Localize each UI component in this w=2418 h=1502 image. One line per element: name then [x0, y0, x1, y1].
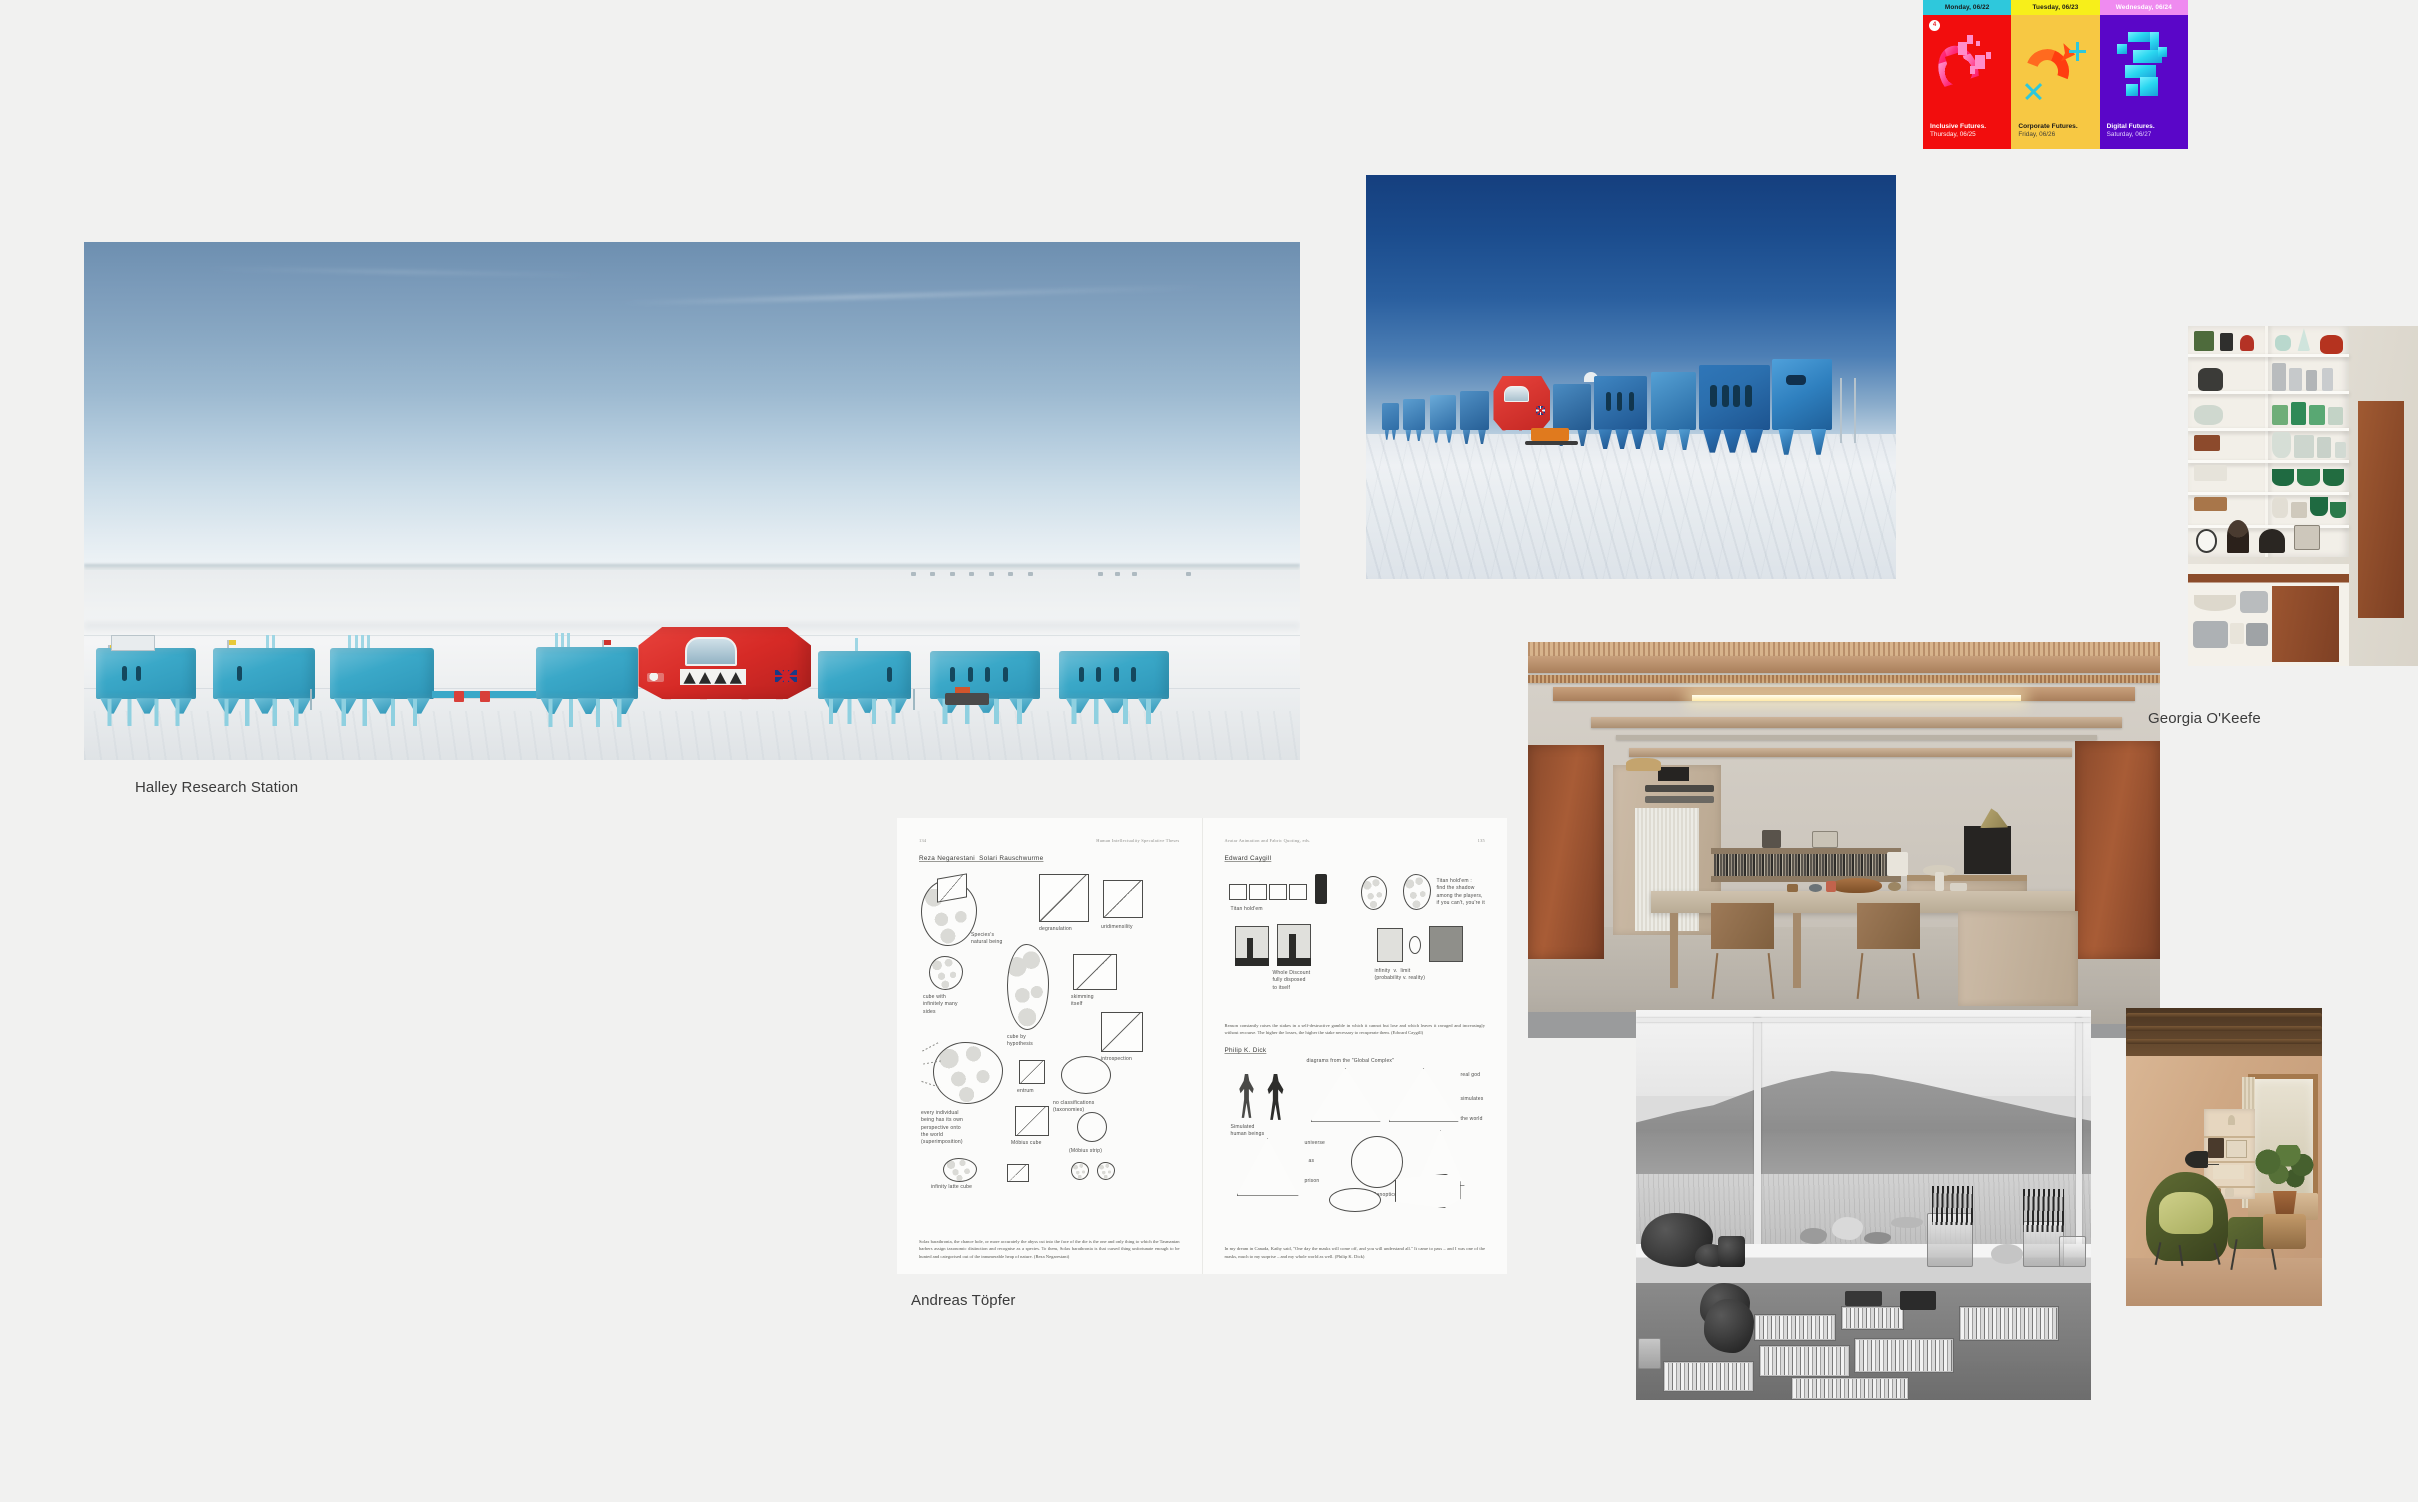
sketch-die — [1103, 880, 1143, 918]
image-okeefe-pantry[interactable] — [2188, 326, 2418, 666]
bw-photograph — [1636, 1010, 2091, 1400]
green-glass-jar — [2291, 402, 2305, 425]
potted-olive-tree — [2255, 1145, 2314, 1217]
sketch-moebius-loop — [1061, 1056, 1111, 1094]
framed-item — [2294, 525, 2320, 550]
animal-skull — [1832, 1217, 1864, 1240]
sketch-label: Titan hold'em — [1231, 906, 1301, 913]
interior-illustration — [1528, 642, 2160, 1038]
station-module — [1553, 384, 1591, 430]
glass-jar — [2317, 437, 2331, 458]
image-halley-close[interactable] — [1366, 175, 1896, 579]
table-leg — [1793, 913, 1801, 988]
log-stool — [2263, 1214, 2306, 1250]
calendar-column-header: Tuesday, 06/23 — [2011, 0, 2099, 15]
sketch-ray — [922, 1041, 940, 1051]
glass-vessel — [2275, 335, 2291, 351]
running-head-right: Avatar Animation and Fabric Quoting, eds… — [1225, 838, 1486, 843]
glass-dish — [2294, 435, 2313, 458]
service-tower — [1840, 378, 1856, 443]
calendar-card-date: Friday, 06/26 — [2018, 131, 2092, 140]
niche-box — [2208, 1138, 2223, 1158]
moodboard-card-futures-calendar[interactable]: Monday, 06/22 4 — [1923, 0, 2188, 149]
triangle-panel — [680, 669, 746, 685]
moodboard-card-halley-panorama[interactable]: Halley Research Station — [84, 242, 1300, 796]
glass-jar — [2059, 1236, 2086, 1267]
image-futures-calendar-cards[interactable]: Monday, 06/22 4 — [1923, 0, 2188, 149]
black-rock-large — [1704, 1299, 1754, 1354]
station-module — [536, 647, 638, 700]
wooden-door-right — [2075, 741, 2160, 959]
niche-card — [2226, 1140, 2247, 1158]
sketch-die-small — [1019, 1060, 1045, 1084]
moodboard-card-andreas-topfer[interactable]: 134Human Intellectuality Speculative The… — [897, 818, 1507, 1309]
sketch-card — [1229, 884, 1247, 900]
sketch-cluster — [1097, 1162, 1115, 1180]
page-quote-right-lower: In my dream in Canada, Kathy said, "One … — [1225, 1245, 1486, 1260]
green-glass-jar — [2272, 405, 2288, 426]
moodboard-card-okeefe-pantry[interactable]: Georgia O'Keefe — [2188, 326, 2418, 666]
sketch-label: universe — [1305, 1140, 1351, 1147]
cloud-wisp — [619, 286, 1203, 305]
wooden-door — [2358, 401, 2404, 619]
sky — [84, 242, 1300, 568]
glyph-pixel-z-icon — [2100, 15, 2188, 123]
cloud-wisp — [206, 268, 595, 277]
counter-with-red-top — [2188, 564, 2349, 666]
green-bowl — [2297, 469, 2320, 485]
dark-tin — [2220, 333, 2233, 351]
sketch-pyramid — [1311, 1068, 1381, 1122]
paint-tube-tray — [1959, 1306, 2059, 1341]
moodboard-card-okeefe-studio[interactable] — [1528, 642, 2160, 1038]
module-window — [1786, 375, 1806, 385]
sketch-label: introspection — [1101, 1056, 1157, 1063]
station-module — [818, 651, 910, 699]
green-jar — [2194, 331, 2213, 352]
station-module-large — [1699, 365, 1771, 430]
sketch-surveillance-camera — [1395, 1174, 1461, 1208]
calendar-card-date: Thursday, 06/25 — [1930, 131, 2004, 140]
sketch-label: real god — [1461, 1072, 1503, 1079]
antarctic-panorama-illustration — [84, 242, 1300, 760]
wooden-tray — [2194, 497, 2226, 511]
white-box — [2230, 623, 2244, 643]
calendar-column-wednesday[interactable]: Wednesday, 06/24 — [2100, 0, 2188, 149]
sketch-dark-card — [1315, 874, 1327, 904]
sketch-card — [1249, 884, 1267, 900]
sketch-figure-blob — [1007, 944, 1049, 1030]
running-head-left: 134Human Intellectuality Speculative The… — [919, 838, 1180, 843]
sketch-label: infinity v. limit(probability v. reality… — [1375, 968, 1467, 983]
shelf — [2188, 354, 2349, 357]
plaster-island-block — [1958, 911, 2078, 1006]
wooden-bowl — [1831, 878, 1882, 893]
sketch-label: as — [1309, 1158, 1339, 1165]
sketch-label: the world — [1461, 1116, 1503, 1123]
union-jack-icon — [775, 670, 797, 682]
card-caption: Georgia O'Keefe — [2148, 710, 2261, 727]
station-module-end — [1772, 359, 1832, 430]
green-glass-jar — [2309, 405, 2325, 426]
sketch-card — [1289, 884, 1307, 900]
distant-equipment-row — [84, 572, 1300, 580]
sketch-pyramid-dark — [1237, 1138, 1299, 1196]
black-cabinet — [1964, 826, 2011, 874]
sketch-plinth — [1277, 958, 1311, 966]
wooden-chair — [1857, 903, 1920, 998]
sketch-label: Speciesʼsnatural being — [971, 932, 1023, 947]
window-header — [1636, 1018, 2091, 1023]
page-heading-left: Reza Negarestani Solari Rauschwurme — [919, 855, 1180, 862]
moodboard-canvas[interactable]: Halley Research Station — [0, 0, 2418, 1502]
book-page-right: Avatar Animation and Fabric Quoting, eds… — [1203, 818, 1508, 1274]
silver-pot — [2306, 370, 2317, 391]
shelf-divider — [2265, 326, 2268, 557]
station-module — [1594, 376, 1647, 431]
strip-light — [1692, 695, 2021, 701]
tracked-vehicle — [945, 693, 989, 705]
stereo-unit — [1645, 785, 1715, 792]
sketch-cube-inspect — [1101, 1012, 1143, 1052]
white-jug — [2272, 497, 2288, 518]
paint-tube-tray — [1841, 1306, 1905, 1329]
cabinet-door — [2272, 586, 2340, 661]
sketch-cluster — [1071, 1162, 1089, 1180]
stacked-lids — [2227, 520, 2250, 552]
framed-photo — [1762, 830, 1781, 847]
sketch-label: degranulation — [1039, 926, 1095, 933]
sketch-simulated-figure — [1265, 1074, 1287, 1120]
red-pot — [2240, 335, 2254, 351]
page-heading-right: Edward Caygill — [1225, 855, 1486, 862]
sketch-cube-chain — [1007, 1164, 1029, 1182]
pantry-illustration — [2188, 326, 2418, 666]
latilla-row — [1528, 675, 2160, 683]
sketch-cube-grey — [1377, 928, 1403, 962]
sketch-cube-diag — [1073, 954, 1117, 990]
earthen-floor — [2126, 1258, 2322, 1306]
module-window — [685, 637, 737, 666]
niche-cup — [2228, 1115, 2235, 1126]
paint-tube-tray — [1791, 1377, 1909, 1400]
aluminium-kettle — [2193, 621, 2228, 648]
skidoo — [480, 691, 490, 702]
green-bowl — [2330, 502, 2346, 518]
card-caption: Halley Research Station — [135, 779, 1300, 796]
basket — [1626, 758, 1661, 771]
sketch-cube-dark — [1429, 926, 1463, 962]
bottle — [1935, 872, 1944, 891]
silver-pitcher — [2272, 363, 2286, 391]
dark-box — [1845, 1291, 1881, 1307]
calendar-column-tuesday[interactable]: Tuesday, 06/23 Corporate Futures. — [2011, 0, 2099, 149]
calendar-card-title: Digital Futures. — [2107, 123, 2181, 132]
orange-tracked-vehicle — [1531, 428, 1569, 441]
station-module — [1403, 399, 1425, 431]
station-module — [1651, 372, 1696, 431]
sketch-label: infinity latte cube — [931, 1184, 997, 1191]
cast-iron-teapot — [2198, 368, 2224, 391]
sketch-label: prison — [1305, 1178, 1345, 1185]
image-adobe-sitting-room[interactable] — [2126, 1008, 2322, 1306]
shelf — [2188, 391, 2349, 394]
ceiling-beam — [1591, 717, 2122, 727]
paint-tube-tray — [1754, 1314, 1836, 1341]
sketch-silhouette — [1289, 934, 1296, 958]
white-platter — [2194, 465, 2226, 481]
silver-pot — [2322, 368, 2333, 391]
wooden-door-left — [1528, 745, 1604, 959]
small-object — [1787, 884, 1798, 893]
sketch-pyramid — [1389, 1068, 1459, 1122]
record-spines — [1714, 854, 1897, 876]
sketch-label: Whole Discountfully disposedto itself — [1273, 970, 1343, 992]
station-module — [1430, 395, 1456, 431]
sketch-label: (Möbius strip) — [1069, 1148, 1133, 1155]
framed-print — [1812, 831, 1837, 848]
green-bowl — [2310, 497, 2328, 515]
calendar-card-title: Corporate Futures. — [2018, 123, 2092, 132]
bone — [1891, 1217, 1923, 1229]
sketch-large-blob — [933, 1042, 1003, 1104]
ceiling-beam — [1528, 656, 2160, 673]
station-module — [330, 648, 435, 699]
station-module-red-central — [638, 627, 811, 700]
speaker — [1658, 767, 1690, 781]
image-topfer-book-spread[interactable]: 134Human Intellectuality Speculative The… — [897, 818, 1507, 1274]
sketch-infinite-cube — [943, 1158, 977, 1182]
sketch-area-right-upper: Titan hold'em Titan hold'em :find the sh… — [1225, 870, 1486, 1018]
sketch-label: Simulatedhuman beings — [1231, 1124, 1297, 1139]
track-rail — [1616, 735, 2096, 740]
white-cup — [1950, 883, 1966, 892]
sketch-human-figure — [1237, 1074, 1257, 1118]
table-leg — [1670, 913, 1678, 988]
sketch-label: simulates — [1461, 1096, 1503, 1103]
aluminium-pot — [2240, 591, 2269, 613]
moodboard-card-adobe-sitting-room[interactable] — [2126, 1008, 2322, 1306]
stereo-unit — [1645, 796, 1715, 802]
sketch-hand — [1403, 874, 1431, 910]
sketch-moebius-strip — [1077, 1112, 1107, 1142]
red-vessel — [1826, 881, 1836, 892]
station-modules — [84, 594, 1300, 729]
sketch-label: skimmingitself — [1071, 994, 1123, 1009]
sketch-label: diagrams from the "Global Complex" — [1307, 1058, 1427, 1065]
coiled-rope — [1991, 1244, 2023, 1264]
bas-logo — [647, 673, 664, 682]
calendar-card-date: Saturday, 06/27 — [2107, 131, 2181, 140]
station-module — [1059, 651, 1168, 699]
sketch-moebius-cube — [1015, 1106, 1049, 1136]
clear-glass — [2328, 407, 2342, 425]
module-window — [1504, 386, 1529, 402]
glyph-magnet-icon — [1923, 15, 2011, 123]
sketch-label: Möbius cube — [1011, 1140, 1067, 1147]
sketch-silhouette — [1247, 938, 1253, 958]
rooftop-antenna-box — [111, 635, 155, 651]
calendar-column-header: Wednesday, 06/24 — [2100, 0, 2188, 15]
calendar-column-header: Monday, 06/22 — [1923, 0, 2011, 15]
sketch-label: every individualbeing has its ownperspec… — [921, 1110, 995, 1146]
station-module — [1382, 403, 1399, 430]
book-spread: 134Human Intellectuality Speculative The… — [897, 818, 1507, 1274]
sketch-ellipse — [1409, 936, 1421, 954]
sketch-card — [1269, 884, 1287, 900]
viga-ceiling — [2126, 1008, 2322, 1056]
glass-jar — [2272, 432, 2291, 457]
sketch-cube-web — [1039, 874, 1089, 922]
page-heading-right-2: Philip K. Dick — [1225, 1047, 1486, 1054]
wooden-chair — [1711, 903, 1774, 998]
paint-tube-tray — [1759, 1345, 1850, 1376]
brushes — [2023, 1189, 2064, 1232]
window-mullion — [1754, 1018, 1761, 1260]
kitchen-scale — [2196, 529, 2217, 552]
image-adobe-studio-interior[interactable] — [1528, 642, 2160, 1038]
green-bowl — [2323, 469, 2344, 485]
station-module — [96, 648, 196, 699]
silver-pot — [2289, 368, 2302, 391]
calendar-column-monday[interactable]: Monday, 06/22 4 — [1923, 0, 2011, 149]
station-module-red — [1493, 376, 1550, 431]
page-quote-right-upper: Reason constantly raises the stakes in a… — [1225, 1022, 1486, 1037]
station-modules — [1382, 353, 1880, 458]
window-mullion — [2076, 1018, 2082, 1260]
card-caption: Andreas Töpfer — [911, 1292, 1507, 1309]
ceiling-beam — [1629, 748, 2071, 757]
stone — [1800, 1228, 1827, 1244]
sketch-label: uridimensility — [1101, 924, 1153, 931]
white-bowls — [2194, 595, 2236, 611]
sketch-label: Titan hold'em :find the shadowamong the … — [1437, 878, 1503, 907]
access-stairs — [913, 689, 915, 711]
aluminium-pot — [2246, 623, 2269, 645]
ceramic-dish — [2291, 502, 2307, 518]
moodboard-card-halley-close[interactable] — [1366, 175, 1896, 579]
sketch-hand — [1361, 876, 1387, 910]
station-module — [213, 648, 315, 699]
glass-tree — [2297, 328, 2310, 351]
shelf — [2188, 460, 2349, 463]
sketch-label: cube withinfinitely manysides — [923, 994, 979, 1016]
calendar-columns: Monday, 06/22 4 — [1923, 0, 2188, 149]
moodboard-card-bw-studio-window[interactable] — [1636, 1010, 2091, 1400]
dark-pan — [2194, 435, 2220, 451]
glass-jar — [1638, 1338, 1661, 1369]
green-bowl — [2272, 469, 2295, 485]
black-dome — [2259, 529, 2285, 552]
glass-cup — [2335, 442, 2346, 458]
dark-vessel — [1718, 1236, 1745, 1267]
glyph-arrow-plus-x-icon — [2011, 15, 2099, 123]
page-quote-left: Solax barathronia, the chance hole, or m… — [919, 1238, 1180, 1260]
calendar-card-title: Inclusive Futures. — [1930, 123, 2004, 132]
dark-box — [1900, 1291, 1936, 1311]
shelf — [2188, 492, 2349, 495]
sketch-label: entrum — [1017, 1088, 1057, 1095]
station-module — [1460, 391, 1490, 431]
union-jack-icon — [1536, 406, 1545, 415]
sketch-area-left: Speciesʼsnatural being degranulation uri… — [919, 870, 1180, 1180]
stacked-papers — [1887, 852, 1908, 877]
glass-bowl — [2194, 405, 2223, 426]
paint-tube-tray — [1663, 1361, 1754, 1392]
image-bw-studio-window[interactable] — [1636, 1010, 2091, 1400]
brushes — [1932, 1186, 1973, 1225]
shelf — [2188, 525, 2349, 528]
shelf — [2188, 428, 2349, 431]
sketch-label: cube byhypothesis — [1007, 1034, 1059, 1049]
access-stairs — [310, 689, 312, 711]
red-crock — [2320, 335, 2343, 353]
skidoo — [454, 691, 464, 702]
image-halley-panorama[interactable] — [84, 242, 1300, 760]
sketch-small-blob — [929, 956, 963, 990]
stone — [1864, 1232, 1891, 1244]
book-page-left: 134Human Intellectuality Speculative The… — [897, 818, 1203, 1274]
sketch-area-right-lower: diagrams from the "Global Complex" Simul… — [1225, 1062, 1486, 1210]
paint-tube-tray — [1854, 1338, 1954, 1373]
sketch-plinth — [1235, 958, 1269, 966]
womb-chair — [2146, 1172, 2228, 1261]
adobe-room-illustration — [2126, 1008, 2322, 1306]
sketch-eye — [1329, 1188, 1381, 1212]
open-shelving-unit — [2188, 326, 2349, 557]
